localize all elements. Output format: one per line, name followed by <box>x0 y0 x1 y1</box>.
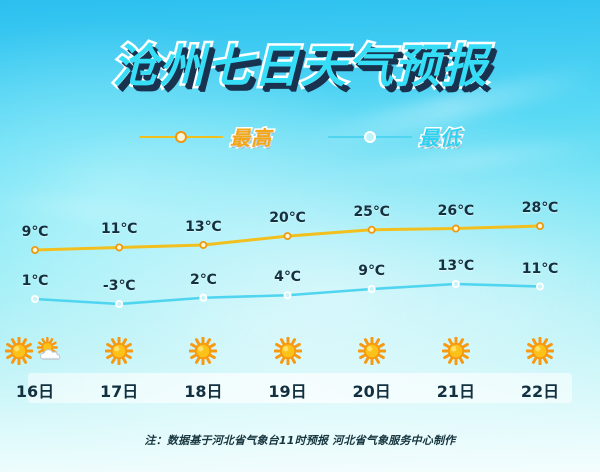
circle-marker-icon <box>200 242 206 248</box>
circle-marker-icon <box>284 233 290 239</box>
circle-marker-icon <box>32 247 38 253</box>
weather-icon-cell <box>274 330 302 372</box>
high-temp-label: 26℃ <box>438 203 474 219</box>
legend-label-low: 最低 <box>419 122 461 151</box>
circle-marker-icon <box>537 283 543 289</box>
weather-icon-cell <box>5 330 65 372</box>
chart-svg <box>0 180 600 320</box>
chart-legend: 最高 最低 <box>0 122 600 151</box>
date-label: 20日 <box>353 378 391 402</box>
footnote: 注：数据基于河北省气象台11时预报 河北省气象服务中心制作 <box>0 432 600 448</box>
circle-marker-icon <box>116 244 122 250</box>
weather-icon-cell <box>526 330 554 372</box>
legend-line-high <box>139 130 223 144</box>
date-label: 22日 <box>521 378 559 402</box>
date-label: 18日 <box>184 378 222 402</box>
low-temp-label: 9℃ <box>358 263 385 279</box>
date-label: 21日 <box>437 378 475 402</box>
page-title: 沧州七日天气预报 <box>112 30 488 96</box>
weather-icon-cell <box>442 330 470 372</box>
date-label: 16日 <box>16 378 54 402</box>
circle-marker-icon <box>116 301 122 307</box>
low-temp-label: -3℃ <box>103 278 136 294</box>
high-temp-label: 25℃ <box>353 204 389 220</box>
sun-icon <box>189 337 217 365</box>
weather-icons-row <box>0 330 600 372</box>
sun-icon <box>5 337 33 365</box>
circle-marker-icon <box>369 227 375 233</box>
date-label: 19日 <box>268 378 306 402</box>
high-temp-label: 9℃ <box>22 224 49 240</box>
low-temp-label: 4℃ <box>274 269 301 285</box>
weather-icon-cell <box>358 330 386 372</box>
sun-behind-cloud-icon <box>35 336 65 366</box>
sun-icon <box>526 337 554 365</box>
high-temp-label: 28℃ <box>522 200 558 216</box>
circle-marker-icon <box>32 296 38 302</box>
weather-icon-cell <box>189 330 217 372</box>
legend-line-low <box>328 130 412 144</box>
low-temp-label: 11℃ <box>522 261 558 277</box>
low-temp-label: 13℃ <box>438 258 474 274</box>
legend-item-low: 最低 <box>328 122 461 151</box>
weather-icon-cell <box>105 330 133 372</box>
title-container: 沧州七日天气预报 <box>0 30 600 96</box>
high-temp-label: 11℃ <box>101 221 137 237</box>
circle-marker-icon <box>453 225 459 231</box>
legend-item-high: 最高 <box>139 122 272 151</box>
low-temp-label: 1℃ <box>22 273 49 289</box>
temperature-line-chart: 9℃1℃11℃-3℃13℃2℃20℃4℃25℃9℃26℃13℃28℃11℃ <box>0 180 600 320</box>
weather-forecast-poster: 沧州七日天气预报 最高 最低 9℃1℃11℃-3℃13℃2℃20℃4℃25℃9℃… <box>0 0 600 472</box>
high-temp-label: 13℃ <box>185 219 221 235</box>
circle-marker-icon <box>364 131 376 143</box>
sun-icon <box>274 337 302 365</box>
legend-label-high: 最高 <box>230 122 272 151</box>
circle-marker-icon <box>200 295 206 301</box>
high-temp-label: 20℃ <box>269 210 305 226</box>
sun-icon <box>442 337 470 365</box>
low-temp-label: 2℃ <box>190 272 217 288</box>
circle-marker-icon <box>175 131 187 143</box>
sun-icon <box>105 337 133 365</box>
circle-marker-icon <box>369 286 375 292</box>
circle-marker-icon <box>284 292 290 298</box>
date-label: 17日 <box>100 378 138 402</box>
circle-marker-icon <box>453 281 459 287</box>
sun-icon <box>358 337 386 365</box>
circle-marker-icon <box>537 223 543 229</box>
